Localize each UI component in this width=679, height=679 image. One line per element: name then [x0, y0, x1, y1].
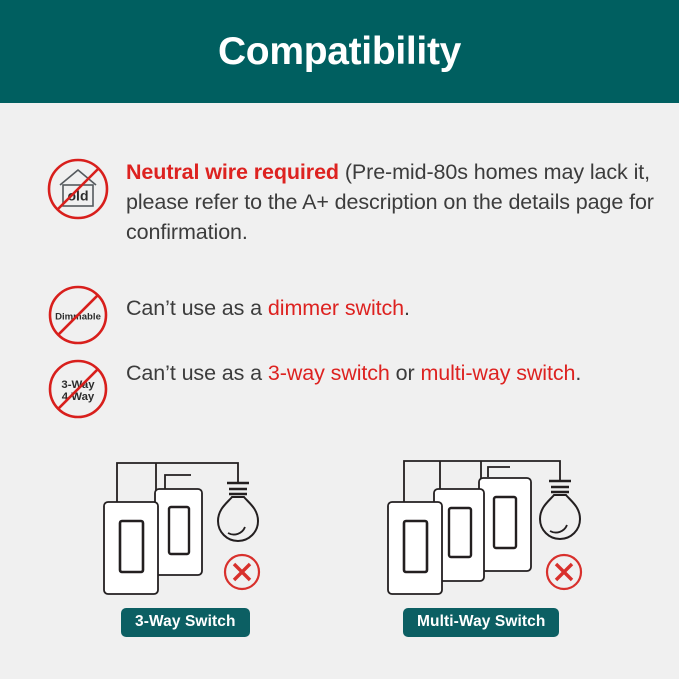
- diagram-multiway-switch: [378, 445, 593, 600]
- page-title: Compatibility: [218, 30, 461, 74]
- switch-plate-back: [155, 489, 202, 575]
- compatibility-infographic: Compatibility old Neutr: [0, 0, 679, 679]
- light-bulb-icon: [540, 481, 580, 539]
- note-text-neutral-wire: Neutral wire required (Pre-mid-80s homes…: [126, 155, 679, 247]
- note-body: Can’t use as a: [126, 296, 268, 320]
- note-item-dimmer: Dimmable Can’t use as a dimmer switch.: [44, 281, 410, 349]
- switch-plate-front: [104, 502, 158, 594]
- note-period: .: [575, 361, 581, 385]
- note-item-neutral-wire: old Neutral wire required (Pre-mid-80s h…: [44, 155, 679, 247]
- note-body: Can’t use as a: [126, 361, 268, 385]
- switch-plate-front: [388, 502, 442, 594]
- no-dimmable-icon: Dimmable: [44, 281, 112, 349]
- no-dimmable-icon-label: Dimmable: [55, 312, 101, 323]
- x-mark-icon: [547, 555, 581, 589]
- note-highlight-multiway: multi-way switch: [420, 361, 575, 385]
- no-3way-4way-icon: 3-Way 4 Way: [44, 355, 112, 423]
- page-header: Compatibility: [0, 0, 679, 103]
- note-conjunction: or: [390, 361, 421, 385]
- note-period: .: [404, 296, 410, 320]
- note-text-dimmer: Can’t use as a dimmer switch.: [126, 281, 410, 323]
- note-highlight: dimmer switch: [268, 296, 404, 320]
- note-highlight: Neutral wire required: [126, 160, 339, 184]
- badge-3way-switch: 3-Way Switch: [121, 608, 250, 637]
- badge-multiway-switch: Multi-Way Switch: [403, 608, 559, 637]
- note-highlight-3way: 3-way switch: [268, 361, 390, 385]
- no-old-house-icon: old: [44, 155, 112, 223]
- light-bulb-icon: [218, 483, 258, 541]
- switch-plate-back: [479, 478, 531, 571]
- x-mark-icon: [225, 555, 259, 589]
- note-text-multiway: Can’t use as a 3-way switch or multi-way…: [126, 355, 581, 388]
- diagram-3way-switch: [96, 445, 286, 600]
- note-item-multiway: 3-Way 4 Way Can’t use as a 3-way switch …: [44, 355, 581, 423]
